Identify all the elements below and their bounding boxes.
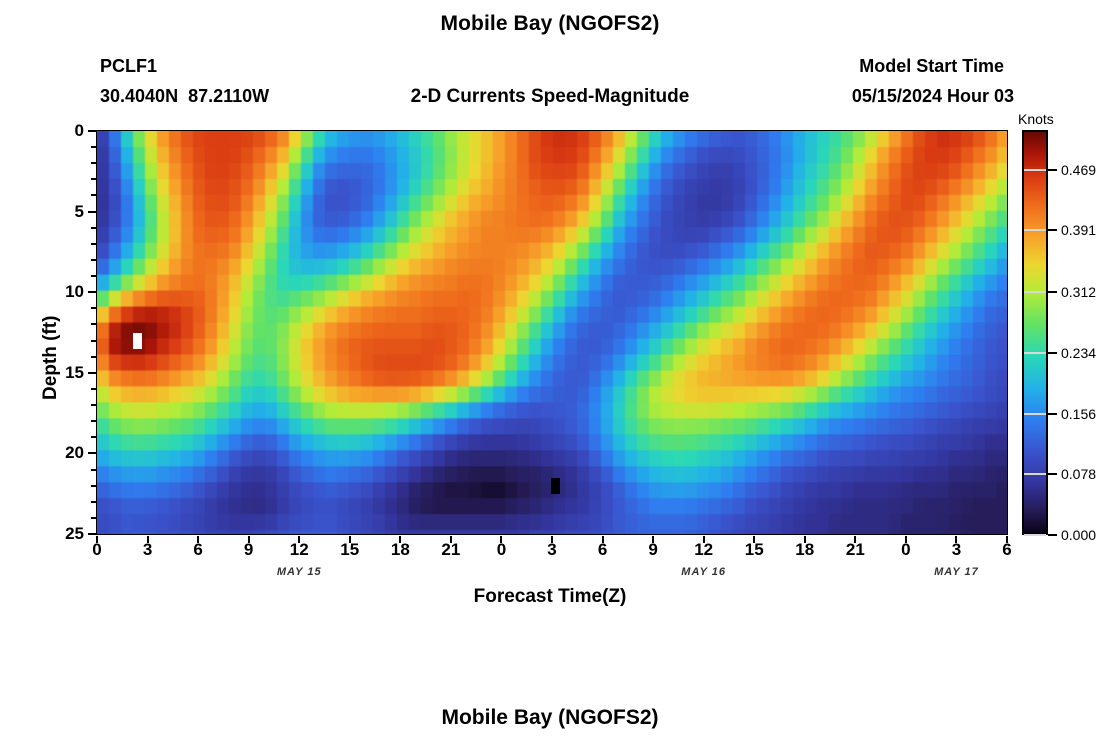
y-tick-label: 10 [24,282,84,302]
x-day-label: MAY 17 [911,566,1001,578]
x-tick-mark [703,536,705,543]
colorbar-tick-label: 0.000 [1061,527,1096,543]
colorbar-title: Knots [1018,111,1054,127]
y-minor-tick-mark [91,501,96,503]
x-tick-label: 6 [178,540,218,560]
y-minor-tick-mark [91,162,96,164]
heatmap-plot-area[interactable] [96,130,1008,535]
y-minor-tick-mark [91,307,96,309]
y-minor-tick-mark [91,275,96,277]
chart-page: Mobile Bay (NGOFS2) PCLF1 30.4040N 87.21… [0,0,1100,750]
y-minor-tick-mark [91,227,96,229]
x-tick-label: 15 [330,540,370,560]
colorbar-tick-mark [1024,413,1046,415]
y-tick-label: 25 [24,524,84,544]
minimum-value-marker [551,478,560,494]
x-tick-mark [955,536,957,543]
x-tick-mark [298,536,300,543]
x-tick-mark [602,536,604,543]
x-tick-label: 0 [77,540,117,560]
y-minor-tick-mark [91,420,96,422]
y-tick-label: 5 [24,202,84,222]
colorbar-tick-label: 0.078 [1061,466,1096,482]
y-tick-label: 20 [24,443,84,463]
y-minor-tick-mark [91,323,96,325]
y-tick-mark [88,533,96,535]
x-tick-label: 6 [583,540,623,560]
x-tick-mark [500,536,502,543]
bottom-page-title: Mobile Bay (NGOFS2) [0,706,1100,730]
x-tick-label: 21 [431,540,471,560]
x-tick-mark [652,536,654,543]
x-tick-mark [905,536,907,543]
x-axis-title: Forecast Time(Z) [0,586,1100,608]
colorbar-tick-mark [1024,352,1046,354]
y-minor-tick-mark [91,517,96,519]
y-tick-mark [88,452,96,454]
colorbar-tick-label: 0.156 [1061,406,1096,422]
y-minor-tick-mark [91,340,96,342]
y-minor-tick-mark [91,178,96,180]
y-minor-tick-mark [91,404,96,406]
colorbar-tick-extension [1048,169,1057,171]
y-minor-tick-mark [91,436,96,438]
station-id-label: PCLF1 [100,56,157,77]
x-tick-mark [1006,536,1008,543]
x-day-label: MAY 16 [659,566,749,578]
x-tick-mark [96,536,98,543]
colorbar-tick-extension [1048,291,1057,293]
x-tick-label: 3 [128,540,168,560]
x-tick-label: 18 [785,540,825,560]
x-day-label: MAY 15 [254,566,344,578]
x-tick-label: 0 [481,540,521,560]
x-tick-label: 12 [684,540,724,560]
x-tick-mark [147,536,149,543]
x-tick-mark [854,536,856,543]
x-tick-label: 0 [886,540,926,560]
colorbar-tick-extension [1048,534,1057,536]
y-minor-tick-mark [91,194,96,196]
y-minor-tick-mark [91,356,96,358]
colorbar-tick-label: 0.391 [1061,222,1096,238]
y-minor-tick-mark [91,243,96,245]
y-tick-mark [88,372,96,374]
colorbar-tick-label: 0.234 [1061,345,1096,361]
x-tick-label: 12 [279,540,319,560]
heatmap-canvas [97,131,1007,534]
colorbar-tick-label: 0.312 [1061,284,1096,300]
x-tick-label: 9 [229,540,269,560]
x-tick-label: 18 [380,540,420,560]
colorbar-tick-extension [1048,229,1057,231]
x-tick-mark [450,536,452,543]
y-tick-mark [88,211,96,213]
x-tick-label: 3 [532,540,572,560]
y-minor-tick-mark [91,259,96,261]
colorbar-tick-extension [1048,352,1057,354]
y-minor-tick-mark [91,469,96,471]
colorbar-tick-label: 0.469 [1061,162,1096,178]
x-tick-mark [349,536,351,543]
y-minor-tick-mark [91,485,96,487]
x-tick-label: 21 [835,540,875,560]
x-tick-mark [399,536,401,543]
colorbar-tick-mark [1024,534,1046,536]
x-tick-mark [551,536,553,543]
x-tick-label: 9 [633,540,673,560]
colorbar-tick-mark [1024,169,1046,171]
x-tick-label: 15 [734,540,774,560]
colorbar-tick-extension [1048,473,1057,475]
page-title: Mobile Bay (NGOFS2) [0,12,1100,36]
y-tick-mark [88,130,96,132]
x-tick-label: 3 [936,540,976,560]
colorbar-tick-extension [1048,413,1057,415]
x-tick-mark [753,536,755,543]
y-tick-mark [88,291,96,293]
colorbar-tick-mark [1024,473,1046,475]
x-tick-mark [197,536,199,543]
y-tick-label: 0 [24,121,84,141]
model-start-time-value: 05/15/2024 Hour 03 [852,86,1014,107]
colorbar-tick-mark [1024,229,1046,231]
y-axis-title: Depth (ft) [40,316,62,400]
x-tick-mark [248,536,250,543]
model-start-time-label: Model Start Time [859,56,1004,77]
colorbar-tick-mark [1024,291,1046,293]
maximum-value-marker [133,333,142,349]
y-minor-tick-mark [91,146,96,148]
x-tick-mark [804,536,806,543]
x-tick-label: 6 [987,540,1027,560]
y-minor-tick-mark [91,388,96,390]
